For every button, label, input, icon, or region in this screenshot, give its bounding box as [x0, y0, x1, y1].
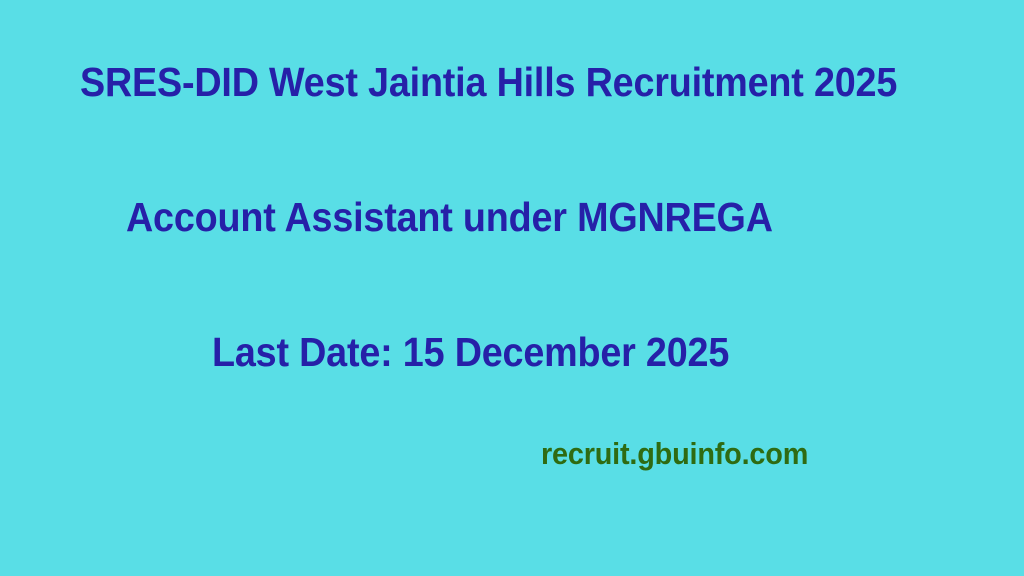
post-name-heading: Account Assistant under MGNREGA	[126, 197, 773, 238]
website-url-text: recruit.gbuinfo.com	[541, 438, 808, 469]
recruitment-poster: SRES-DID West Jaintia Hills Recruitment …	[0, 0, 1024, 576]
page-title: SRES-DID West Jaintia Hills Recruitment …	[80, 62, 897, 103]
last-date-text: Last Date: 15 December 2025	[212, 332, 729, 373]
